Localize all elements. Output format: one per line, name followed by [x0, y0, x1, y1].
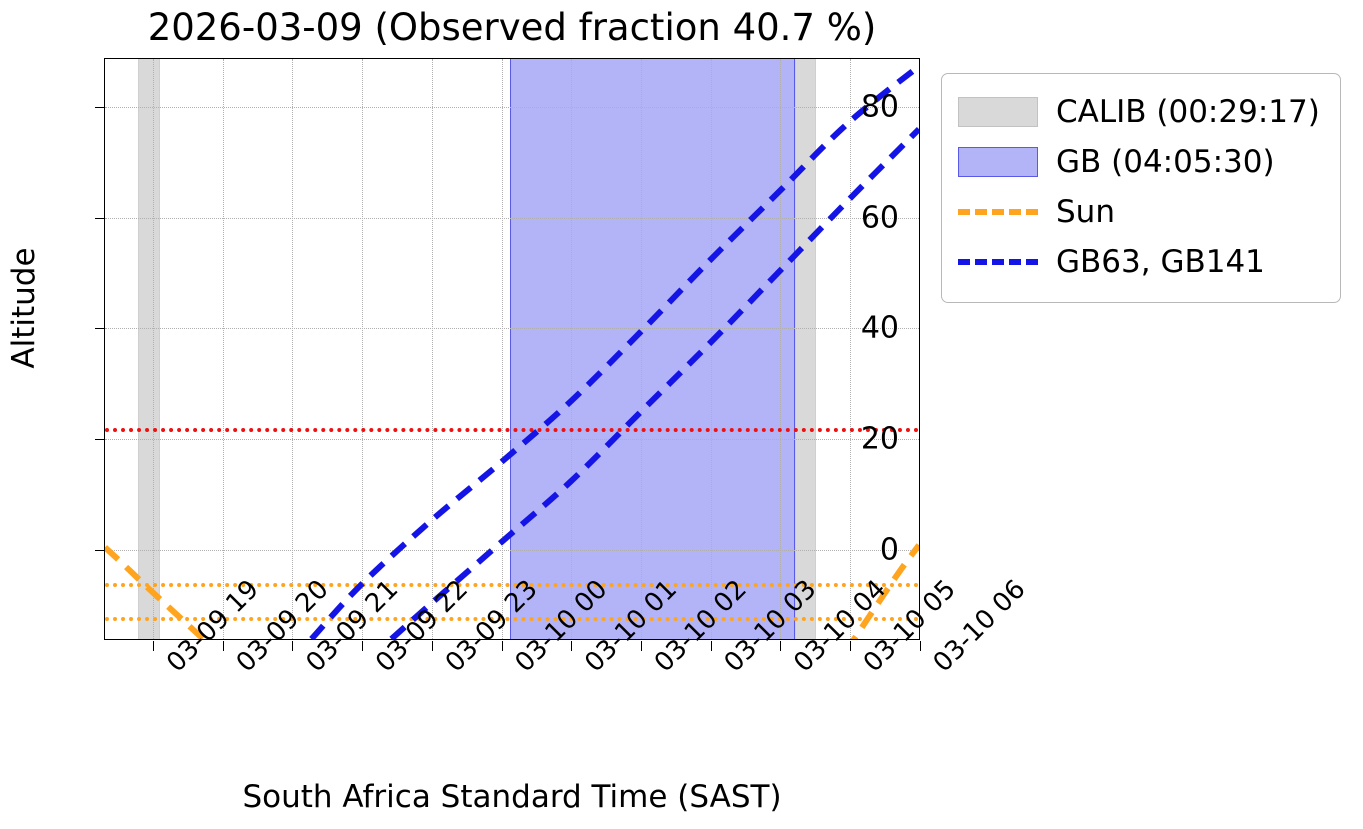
y-tick-label-1: 20	[861, 422, 899, 457]
y-tick-4	[95, 107, 105, 108]
y-tick-label-3: 60	[861, 200, 899, 235]
x-tick-8	[711, 641, 712, 651]
legend-swatch-gb	[958, 147, 1038, 177]
x-tick-2	[292, 641, 293, 651]
legend-swatch-calib	[958, 97, 1038, 127]
y-tick-label-4: 80	[861, 89, 899, 124]
legend: CALIB (00:29:17)GB (04:05:30)SunGB63, GB…	[941, 73, 1341, 303]
legend-dash-targets	[958, 247, 1038, 277]
x-tick-label-4: 03-09 23	[440, 657, 461, 678]
x-tick-label-5: 03-10 00	[510, 657, 531, 678]
y-tick-0	[95, 550, 105, 551]
chart-title: 2026-03-09 (Observed fraction 40.7 %)	[104, 6, 920, 50]
x-tick-label-1: 03-09 20	[231, 657, 252, 678]
y-tick-label-2: 40	[861, 311, 899, 346]
x-tick-6	[571, 641, 572, 651]
legend-label-3: GB63, GB141	[1056, 245, 1265, 279]
plot-area: 020406080 03-09 1903-09 2003-09 2103-09 …	[104, 58, 920, 640]
legend-label-1: GB (04:05:30)	[1056, 145, 1275, 179]
legend-dash-line	[958, 209, 1038, 215]
altitude-chart-figure: 2026-03-09 (Observed fraction 40.7 %) Al…	[0, 0, 1363, 829]
x-tick-label-11: 03-10 06	[928, 657, 949, 678]
x-tick-label-10: 03-10 05	[858, 657, 879, 678]
x-tick-label-7: 03-10 02	[649, 657, 670, 678]
x-tick-label-2: 03-09 21	[300, 657, 321, 678]
x-tick-0	[153, 641, 154, 651]
y-tick-label-0: 0	[880, 533, 899, 568]
legend-dash-sun	[958, 197, 1038, 227]
x-ticks: 03-09 1903-09 2003-09 2103-09 2203-09 23…	[105, 641, 921, 791]
plot-clip	[105, 59, 919, 639]
x-tick-label-6: 03-10 01	[579, 657, 600, 678]
legend-item-3[interactable]: GB63, GB141	[958, 237, 1324, 287]
y-tick-3	[95, 218, 105, 219]
x-tick-label-8: 03-10 03	[719, 657, 740, 678]
x-tick-7	[641, 641, 642, 651]
x-tick-label-0: 03-09 19	[161, 657, 182, 678]
legend-item-0[interactable]: CALIB (00:29:17)	[958, 87, 1324, 137]
legend-item-1[interactable]: GB (04:05:30)	[958, 137, 1324, 187]
y-axis-label: Altitude	[6, 108, 42, 508]
x-tick-1	[223, 641, 224, 651]
curve-gb63	[311, 66, 919, 639]
legend-dash-line	[958, 259, 1038, 265]
legend-label-0: CALIB (00:29:17)	[1056, 95, 1320, 129]
x-tick-label-9: 03-10 04	[788, 657, 809, 678]
x-tick-5	[502, 641, 503, 651]
y-tick-1	[95, 439, 105, 440]
x-tick-11	[920, 641, 921, 651]
y-tick-2	[95, 328, 105, 329]
x-tick-3	[362, 641, 363, 651]
curve-gb141	[391, 129, 919, 639]
series-curves	[105, 59, 919, 639]
legend-item-2[interactable]: Sun	[958, 187, 1324, 237]
x-tick-9	[780, 641, 781, 651]
legend-label-2: Sun	[1056, 195, 1115, 229]
x-tick-label-3: 03-09 22	[370, 657, 391, 678]
x-tick-10	[850, 641, 851, 651]
x-tick-4	[432, 641, 433, 651]
